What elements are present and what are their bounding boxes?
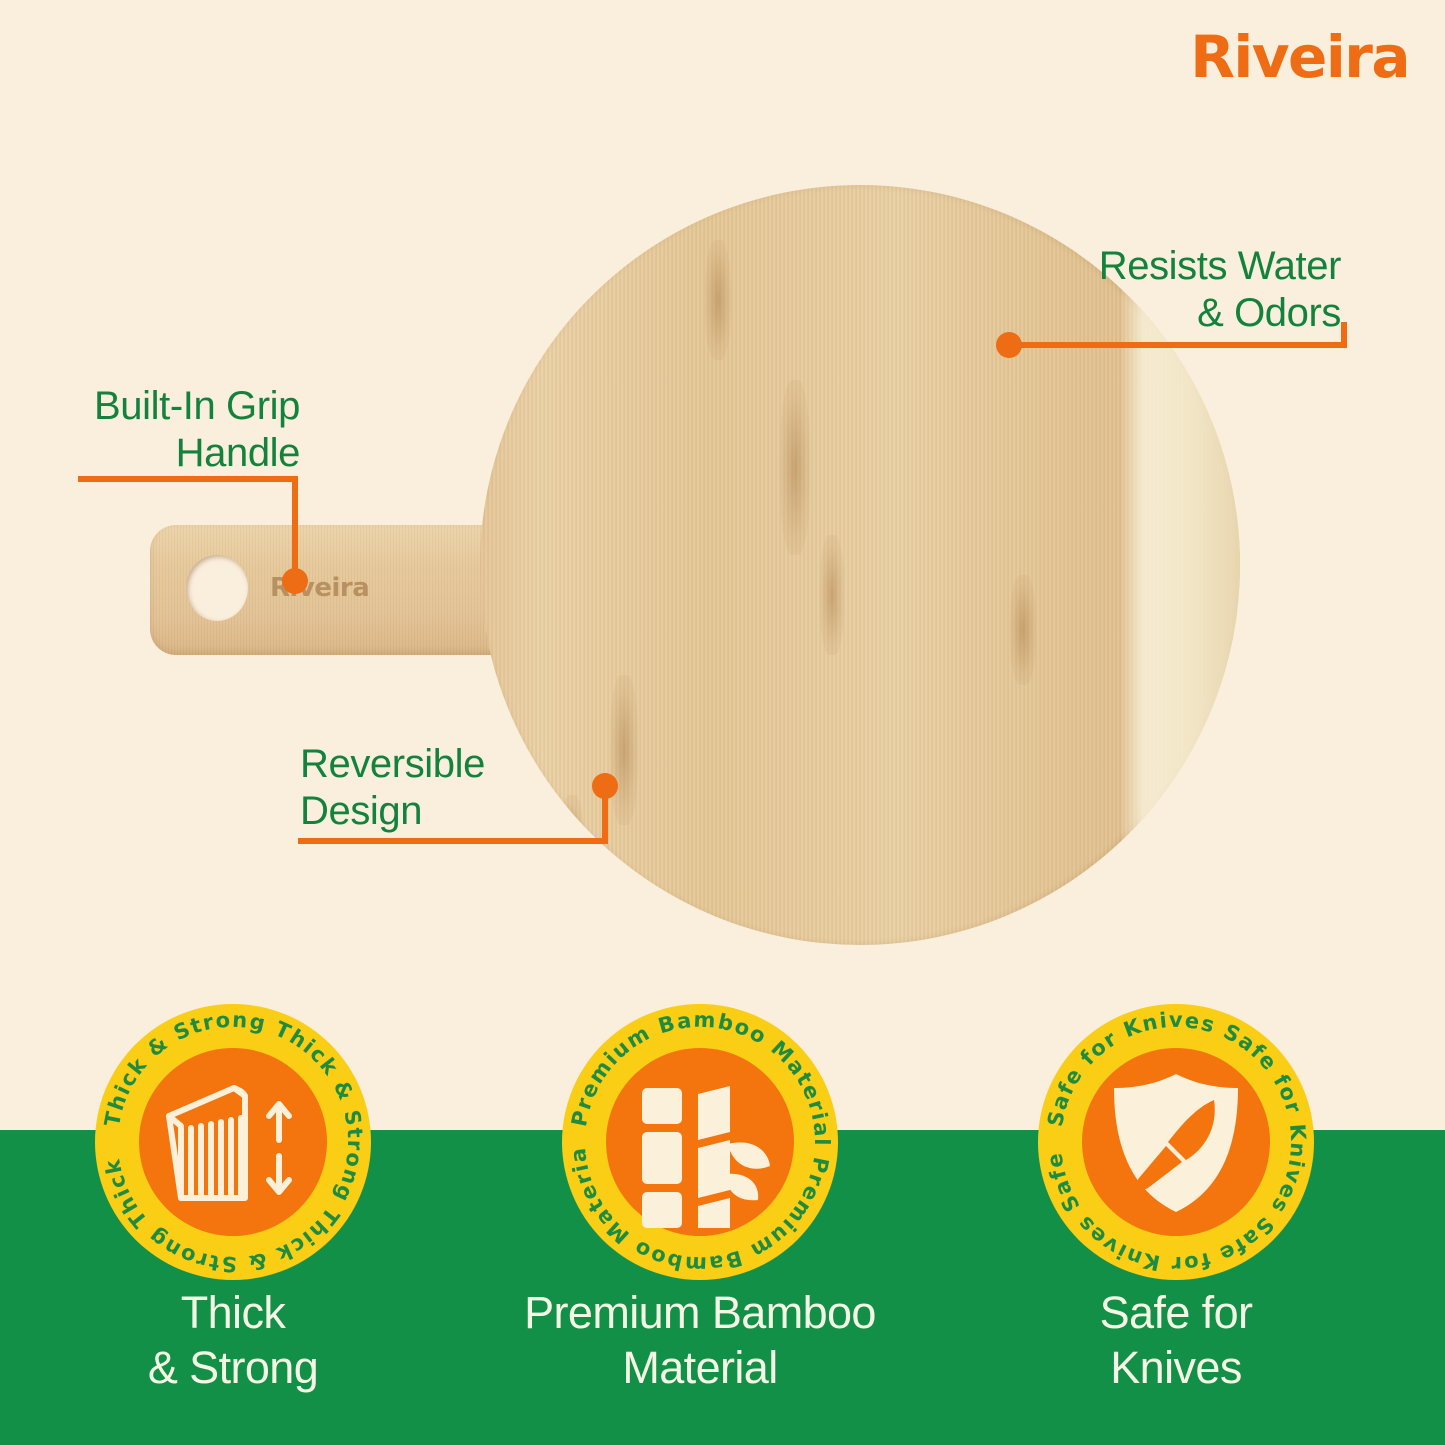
callout-line-h-resists-water — [1014, 342, 1347, 348]
callout-built-in-grip-handle: Built-In Grip Handle — [44, 383, 300, 477]
callout-line-v-resists-water — [1341, 322, 1347, 348]
callout-line-h-grip-handle — [78, 476, 298, 482]
badge-thick-and-strong: Thick & Strong Thick & Strong Thick & St… — [95, 1004, 371, 1280]
grain-node-icon — [780, 380, 810, 555]
badge-safe-for-knives: Safe for Knives Safe for Knives Safe for… — [1038, 1004, 1314, 1280]
grain-node-icon — [1010, 575, 1036, 685]
badge-caption-premium-bamboo-material: Premium Bamboo Material — [490, 1286, 910, 1396]
callout-reversible-design: Reversible Design — [300, 741, 630, 835]
grain-node-icon — [705, 240, 731, 360]
caption-line-2: & Strong — [63, 1341, 403, 1396]
shield-knife-icon — [1082, 1048, 1270, 1236]
brand-logo: Riveira — [1190, 28, 1409, 86]
bamboo-stalk-icon — [606, 1048, 794, 1236]
caption-line-2: Knives — [996, 1341, 1356, 1396]
callout-line-1: Reversible — [300, 741, 630, 788]
grain-node-icon — [820, 535, 844, 655]
callout-line-1: Built-In Grip — [44, 383, 300, 430]
caption-line-1: Safe for — [996, 1286, 1356, 1341]
caption-line-1: Premium Bamboo — [490, 1286, 910, 1341]
callout-line-2: Handle — [44, 430, 300, 477]
badge-caption-safe-for-knives: Safe for Knives — [996, 1286, 1356, 1396]
caption-line-2: Material — [490, 1341, 910, 1396]
callout-line-1: Resists Water — [921, 243, 1341, 290]
callout-dot-grip-handle — [282, 568, 308, 594]
callout-line-2: Design — [300, 788, 630, 835]
badge-premium-bamboo-material: Premium Bamboo Material Premium Bamboo M… — [562, 1004, 838, 1280]
callout-dot-reversible — [592, 773, 618, 799]
board-thickness-icon — [139, 1048, 327, 1236]
callout-resists-water-odors: Resists Water & Odors — [921, 243, 1341, 337]
callout-line-2: & Odors — [921, 290, 1341, 337]
badge-caption-thick-and-strong: Thick & Strong — [63, 1286, 403, 1396]
handle-hanging-hole — [186, 555, 248, 621]
callout-line-h-reversible — [298, 838, 608, 844]
caption-line-1: Thick — [63, 1286, 403, 1341]
callout-line-v-grip-handle — [292, 476, 298, 580]
infographic-canvas: Riveira Riveira Resists Water & Odors Bu… — [0, 0, 1445, 1445]
